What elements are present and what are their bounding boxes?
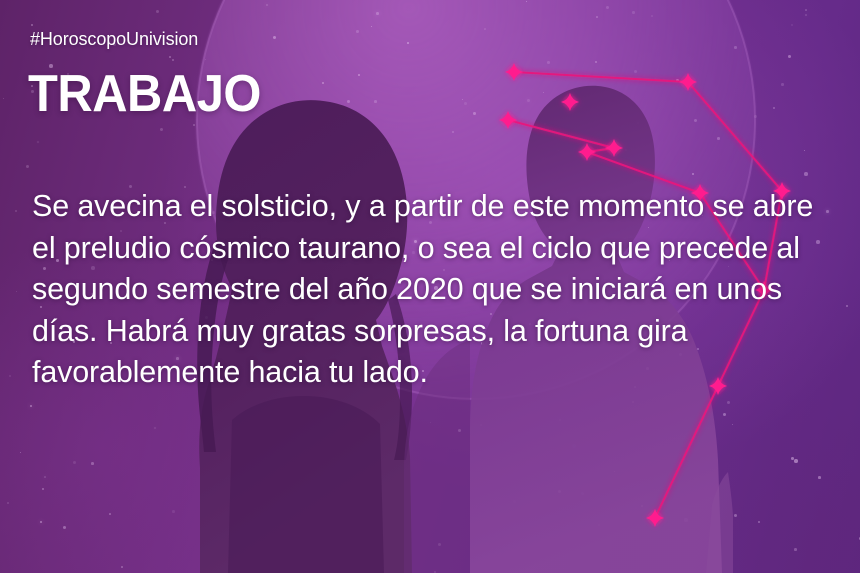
horoscope-card: #HoroscopoUnivision TRABAJO Se avecina e… <box>0 0 860 573</box>
page-title: TRABAJO <box>28 68 261 120</box>
text-content: #HoroscopoUnivision TRABAJO Se avecina e… <box>0 0 860 573</box>
hashtag-label: #HoroscopoUnivision <box>30 29 198 50</box>
horoscope-body-text: Se avecina el solsticio, y a partir de e… <box>32 186 832 394</box>
